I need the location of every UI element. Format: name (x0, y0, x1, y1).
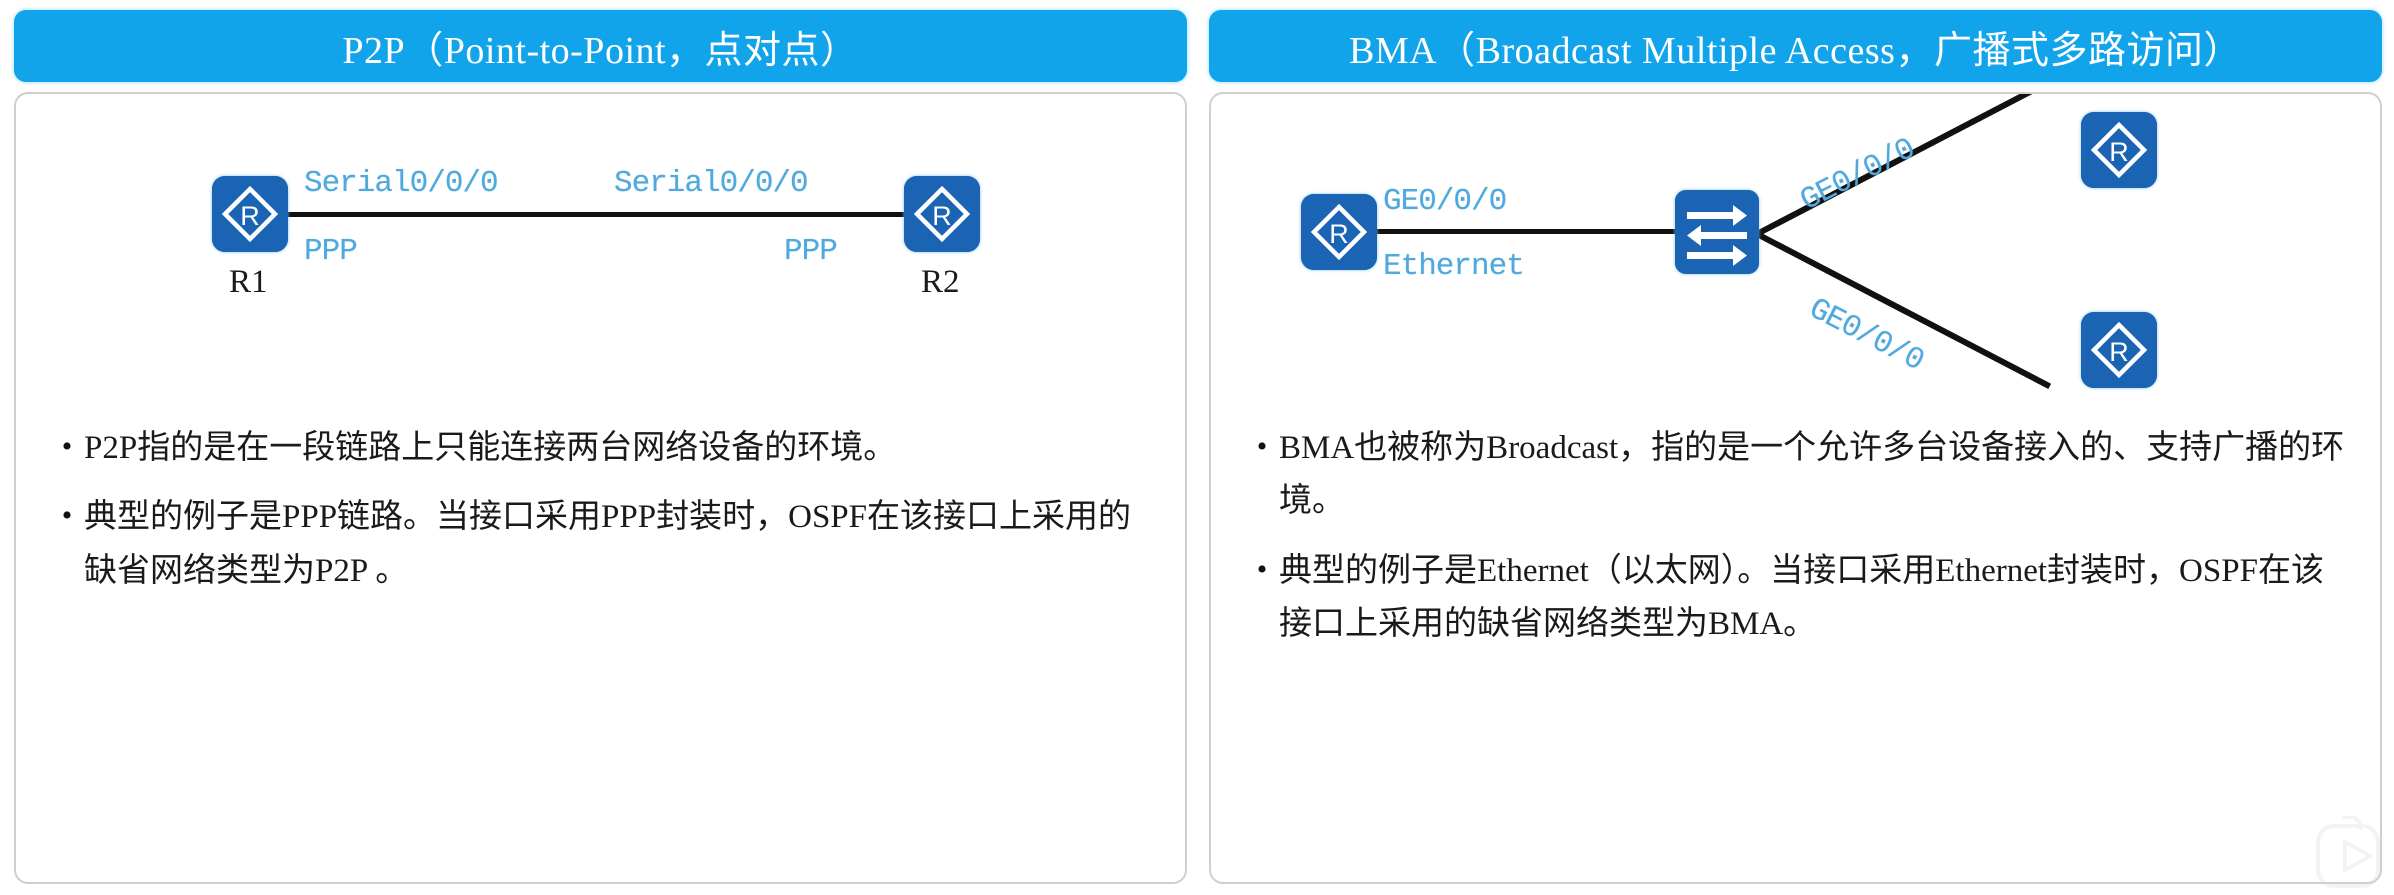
bma-bullet-list: • BMA也被称为Broadcast，指的是一个允许多台设备接入的、支持广播的环… (1211, 404, 2380, 882)
link-label-ge-lower: GE0/0/0 (1803, 292, 1929, 379)
router-icon: R (212, 176, 288, 252)
panel-p2p-body: R R Serial0/0/0 Serial0/0/0 PPP PPP (14, 92, 1187, 884)
switch-icon (1675, 190, 1759, 274)
router-icon: R (2081, 312, 2157, 388)
list-item-text: BMA也被称为Broadcast，指的是一个允许多台设备接入的、支持广播的环境。 (1279, 422, 2354, 529)
p2p-link-line (288, 212, 908, 217)
panel-bma-title: BMA（Broadcast Multiple Access，广播式多路访问） (1349, 19, 2242, 74)
list-item: • 典型的例子是PPP链路。当接口采用PPP封装时，OSPF在该接口上采用的缺省… (50, 491, 1159, 598)
list-item-text: 典型的例子是Ethernet（以太网）。当接口采用Ethernet封装时，OSP… (1279, 545, 2354, 652)
link-label-ppp-right: PPP (784, 234, 837, 269)
router-icon-top-right[interactable]: R (2081, 112, 2157, 188)
panel-bma: BMA（Broadcast Multiple Access，广播式多路访问） R (1209, 10, 2382, 884)
svg-text:R: R (240, 201, 260, 231)
panel-p2p-title: P2P（Point-to-Point，点对点） (342, 19, 858, 74)
router-icon: R (2081, 112, 2157, 188)
link-label-ge-upper: GE0/0/0 (1795, 132, 1921, 219)
router-icon-left[interactable]: R (1301, 194, 1377, 270)
switch-icon-center[interactable] (1675, 190, 1759, 274)
router-icon-bottom-right[interactable]: R (2081, 312, 2157, 388)
list-item-text: P2P指的是在一段链路上只能连接两台网络设备的环境。 (84, 422, 1159, 475)
device-label-r2: R2 (921, 264, 960, 301)
link-label-serial-left: Serial0/0/0 (304, 166, 498, 201)
bullet-marker: • (50, 491, 84, 540)
panel-bma-header: BMA（Broadcast Multiple Access，广播式多路访问） (1209, 10, 2382, 82)
device-label-r1: R1 (229, 264, 268, 301)
svg-text:R: R (2109, 337, 2129, 367)
panel-p2p-header: P2P（Point-to-Point，点对点） (14, 10, 1187, 82)
bullet-marker: • (50, 422, 84, 471)
link-label-ppp-left: PPP (304, 234, 357, 269)
bma-link-line-horizontal (1375, 229, 1675, 234)
list-item: • P2P指的是在一段链路上只能连接两台网络设备的环境。 (50, 422, 1159, 475)
list-item-text: 典型的例子是PPP链路。当接口采用PPP封装时，OSPF在该接口上采用的缺省网络… (84, 491, 1159, 598)
p2p-topology-diagram: R R Serial0/0/0 Serial0/0/0 PPP PPP (16, 94, 1185, 404)
router-icon: R (1301, 194, 1377, 270)
svg-text:R: R (1329, 219, 1349, 249)
svg-text:R: R (2109, 137, 2129, 167)
bullet-marker: • (1245, 422, 1279, 471)
link-label-serial-right: Serial0/0/0 (614, 166, 808, 201)
router-icon-r1[interactable]: R (212, 176, 288, 252)
bullet-marker: • (1245, 545, 1279, 594)
p2p-bullet-list: • P2P指的是在一段链路上只能连接两台网络设备的环境。 • 典型的例子是PPP… (16, 404, 1185, 882)
link-label-ethernet: Ethernet (1383, 249, 1524, 284)
router-icon: R (904, 176, 980, 252)
panel-bma-body: R (1209, 92, 2382, 884)
router-icon-r2[interactable]: R (904, 176, 980, 252)
svg-text:R: R (932, 201, 952, 231)
list-item: • 典型的例子是Ethernet（以太网）。当接口采用Ethernet封装时，O… (1245, 545, 2354, 652)
list-item: • BMA也被称为Broadcast，指的是一个允许多台设备接入的、支持广播的环… (1245, 422, 2354, 529)
comparison-board: P2P（Point-to-Point，点对点） R (0, 0, 2394, 892)
panel-p2p: P2P（Point-to-Point，点对点） R (14, 10, 1187, 884)
link-label-ge-left: GE0/0/0 (1383, 184, 1506, 219)
bma-topology-diagram: R (1211, 94, 2380, 404)
